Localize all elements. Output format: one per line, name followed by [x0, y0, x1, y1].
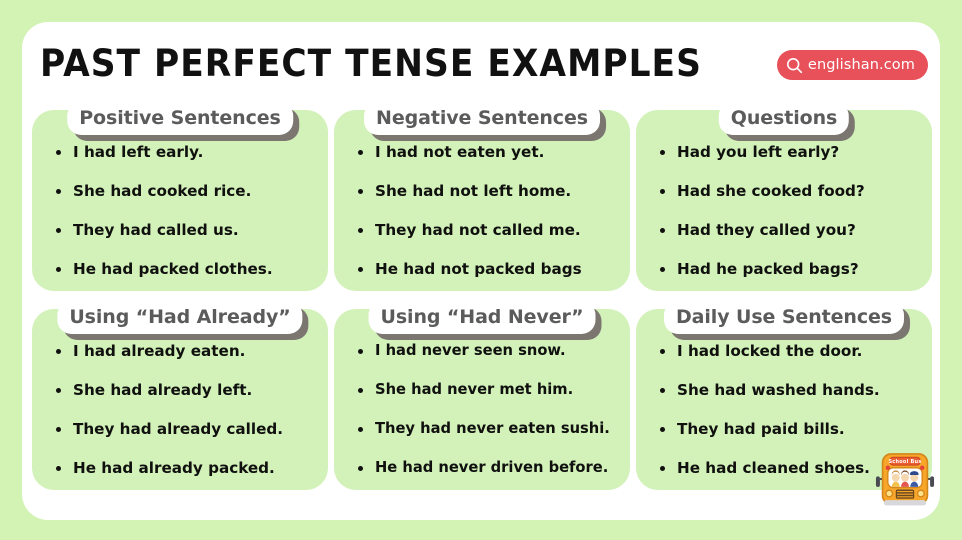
list-item-text: They had already called. [73, 420, 283, 438]
bullet-icon [56, 150, 61, 155]
card-negative-sentences: Negative Sentences I had not eaten yet. … [334, 110, 630, 291]
card-daily-use-sentences: Daily Use Sentences I had locked the doo… [636, 309, 932, 490]
bullet-icon [56, 349, 61, 354]
list-item: She had not left home. [358, 183, 616, 200]
list-item-text: She had already left. [73, 381, 252, 399]
list-item: I had locked the door. [660, 343, 918, 360]
card-list: I had locked the door. She had washed ha… [646, 339, 922, 477]
list-item: She had already left. [56, 382, 314, 399]
card-header: Negative Sentences [364, 102, 600, 135]
poster: PAST PERFECT TENSE EXAMPLES englishan.co… [0, 0, 962, 540]
content-panel: PAST PERFECT TENSE EXAMPLES englishan.co… [22, 22, 940, 520]
card-list: I had left early. She had cooked rice. T… [42, 140, 318, 278]
brand-badge[interactable]: englishan.com [777, 50, 928, 80]
card-title: Using “Had Already” [57, 301, 302, 334]
list-item: They had called us. [56, 222, 314, 239]
list-item-text: Had you left early? [677, 143, 839, 161]
card-header: Daily Use Sentences [664, 301, 904, 334]
card-title: Daily Use Sentences [664, 301, 904, 334]
bullet-icon [358, 189, 363, 194]
list-item: Had they called you? [660, 222, 918, 239]
list-item-text: I had already eaten. [73, 342, 245, 360]
bullet-icon [660, 349, 665, 354]
list-item: She had never met him. [358, 382, 616, 399]
list-item: They had not called me. [358, 222, 616, 239]
list-item-text: She had never met him. [375, 381, 573, 398]
list-item: Had he packed bags? [660, 261, 918, 278]
bullet-icon [660, 189, 665, 194]
list-item-text: I had not eaten yet. [375, 143, 544, 161]
list-item: Had she cooked food? [660, 183, 918, 200]
list-item: He had never driven before. [358, 460, 616, 477]
bullet-icon [56, 267, 61, 272]
list-item-text: They had never eaten sushi. [375, 420, 610, 437]
card-title: Positive Sentences [67, 102, 293, 135]
page-title: PAST PERFECT TENSE EXAMPLES [40, 42, 702, 85]
card-using-had-already: Using “Had Already” I had already eaten.… [32, 309, 328, 490]
bullet-icon [660, 466, 665, 471]
bullet-icon [358, 267, 363, 272]
list-item-text: He had cleaned shoes. [677, 459, 870, 477]
list-item-text: They had called us. [73, 221, 239, 239]
list-item: She had cooked rice. [56, 183, 314, 200]
bullet-icon [358, 388, 363, 393]
card-title: Negative Sentences [364, 102, 600, 135]
bullet-icon [358, 349, 363, 354]
list-item-text: He had packed clothes. [73, 260, 273, 278]
card-positive-sentences: Positive Sentences I had left early. She… [32, 110, 328, 291]
card-list: Had you left early? Had she cooked food?… [646, 140, 922, 278]
bullet-icon [660, 427, 665, 432]
cards-grid: Positive Sentences I had left early. She… [32, 110, 932, 510]
list-item: I had not eaten yet. [358, 144, 616, 161]
list-item-text: Had they called you? [677, 221, 856, 239]
bullet-icon [56, 189, 61, 194]
list-item-text: They had not called me. [375, 221, 581, 239]
list-item: They had paid bills. [660, 421, 918, 438]
list-item: He had not packed bags [358, 261, 616, 278]
search-icon [786, 57, 803, 74]
bullet-icon [358, 466, 363, 471]
bullet-icon [660, 388, 665, 393]
bullet-icon [358, 427, 363, 432]
card-header: Questions [719, 102, 849, 135]
card-title: Using “Had Never” [369, 301, 596, 334]
list-item-text: I had left early. [73, 143, 203, 161]
list-item: I had never seen snow. [358, 343, 616, 360]
card-header: Using “Had Already” [57, 301, 302, 334]
list-item: She had washed hands. [660, 382, 918, 399]
list-item-text: He had never driven before. [375, 459, 608, 476]
card-list: I had not eaten yet. She had not left ho… [344, 140, 620, 278]
card-questions: Questions Had you left early? Had she co… [636, 110, 932, 291]
bullet-icon [660, 228, 665, 233]
list-item-text: Had she cooked food? [677, 182, 865, 200]
bullet-icon [56, 466, 61, 471]
brand-name: englishan.com [808, 58, 915, 73]
card-list: I had already eaten. She had already lef… [42, 339, 318, 477]
bullet-icon [358, 228, 363, 233]
list-item-text: He had not packed bags [375, 260, 582, 278]
bullet-icon [660, 150, 665, 155]
card-list: I had never seen snow. She had never met… [344, 339, 620, 477]
card-header: Positive Sentences [67, 102, 293, 135]
list-item: He had packed clothes. [56, 261, 314, 278]
list-item-text: She had cooked rice. [73, 182, 251, 200]
card-header: Using “Had Never” [369, 301, 596, 334]
bullet-icon [660, 267, 665, 272]
poster-header: PAST PERFECT TENSE EXAMPLES englishan.co… [22, 22, 940, 106]
list-item: He had cleaned shoes. [660, 460, 918, 477]
card-title: Questions [719, 102, 849, 135]
list-item-text: They had paid bills. [677, 420, 845, 438]
list-item: I had left early. [56, 144, 314, 161]
bullet-icon [56, 388, 61, 393]
bullet-icon [56, 427, 61, 432]
card-using-had-never: Using “Had Never” I had never seen snow.… [334, 309, 630, 490]
list-item-text: She had not left home. [375, 182, 571, 200]
list-item-text: He had already packed. [73, 459, 275, 477]
list-item: I had already eaten. [56, 343, 314, 360]
list-item-text: I had locked the door. [677, 342, 862, 360]
list-item: They had already called. [56, 421, 314, 438]
list-item-text: She had washed hands. [677, 381, 880, 399]
list-item: He had already packed. [56, 460, 314, 477]
list-item: They had never eaten sushi. [358, 421, 616, 438]
list-item-text: Had he packed bags? [677, 260, 859, 278]
list-item: Had you left early? [660, 144, 918, 161]
list-item-text: I had never seen snow. [375, 342, 566, 359]
bullet-icon [56, 228, 61, 233]
bullet-icon [358, 150, 363, 155]
